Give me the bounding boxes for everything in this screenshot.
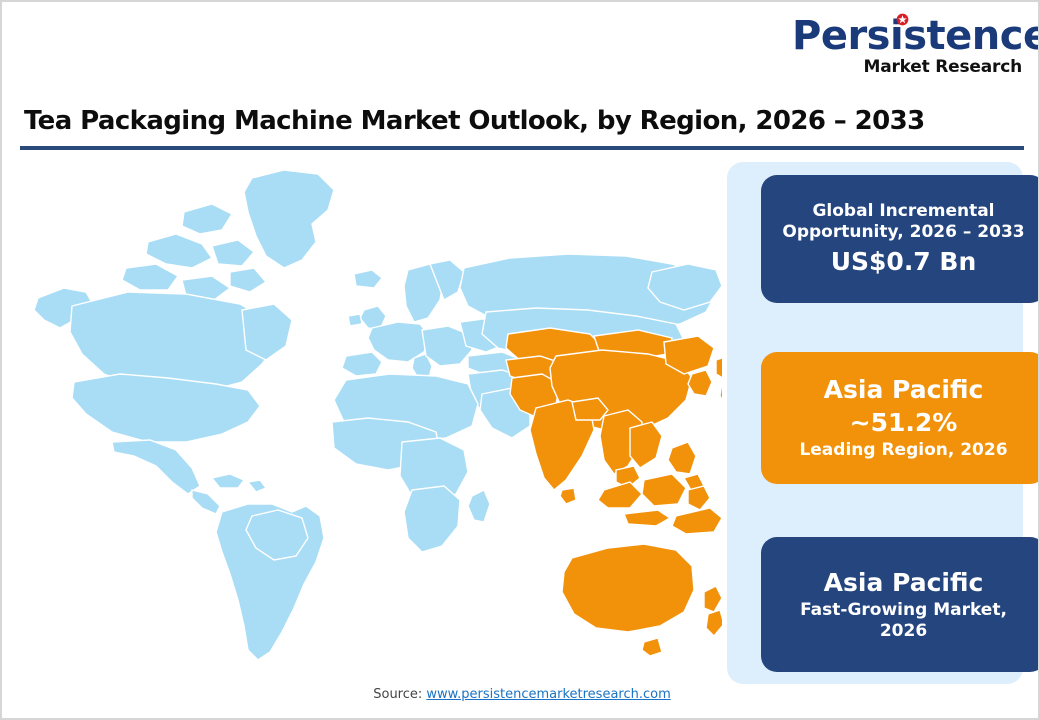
infographic-page: Persistence Market Research Tea Packagin… <box>0 0 1040 720</box>
fast-growing-market-card: Asia Pacific Fast-Growing Market, 2026 <box>761 537 1040 672</box>
card2-caption: Leading Region, 2026 <box>799 440 1007 461</box>
map-highlight-asia-pacific <box>506 328 722 656</box>
company-logo: Persistence Market Research <box>792 16 1022 76</box>
card1-line1: Global Incremental <box>812 201 994 222</box>
title-divider <box>20 146 1024 150</box>
source-line: Source: www.persistencemarketresearch.co… <box>2 687 1040 702</box>
star-burst-icon <box>896 13 909 26</box>
logo-tagline: Market Research <box>792 59 1022 76</box>
global-incremental-opportunity-card: Global Incremental Opportunity, 2026 – 2… <box>761 175 1040 303</box>
card3-region: Asia Pacific <box>824 567 984 600</box>
card2-share: ~51.2% <box>850 407 958 440</box>
card1-line2: Opportunity, 2026 – 2033 <box>782 222 1024 243</box>
world-map-svg <box>16 160 722 672</box>
leading-region-card: Asia Pacific ~51.2% Leading Region, 2026 <box>761 352 1040 484</box>
card3-caption-line2: 2026 <box>880 621 927 642</box>
source-url-link[interactable]: www.persistencemarketresearch.com <box>426 687 670 702</box>
source-label: Source: <box>373 687 426 702</box>
card1-value: US$0.7 Bn <box>831 246 977 277</box>
card3-caption-line1: Fast-Growing Market, <box>800 600 1007 621</box>
world-map <box>16 160 722 672</box>
highlights-panel: Global Incremental Opportunity, 2026 – 2… <box>727 162 1023 684</box>
page-title: Tea Packaging Machine Market Outlook, by… <box>24 106 925 136</box>
card2-region: Asia Pacific <box>824 374 984 407</box>
